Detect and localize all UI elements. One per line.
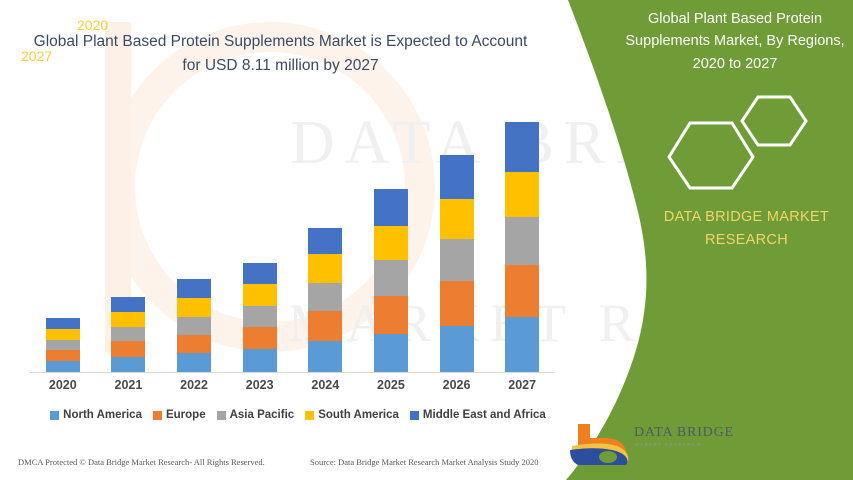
panel-title: Global Plant Based Protein Supplements M… [625, 8, 845, 75]
bar-stack [111, 297, 145, 372]
bar-segment-south-america [440, 199, 474, 239]
x-label-2020: 2020 [36, 378, 90, 392]
x-label-2026: 2026 [430, 378, 484, 392]
legend-label: Asia Pacific [230, 409, 295, 421]
logo-subtext: MARKET RESEARCH [635, 442, 701, 447]
bar-2026 [440, 155, 474, 372]
bar-segment-europe [46, 350, 80, 361]
bar-segment-north-america [374, 334, 408, 372]
bar-segment-europe [243, 327, 277, 349]
bar-segment-south-america [46, 329, 80, 340]
bar-segment-middle-east-and-africa [374, 189, 408, 226]
bar-stack [243, 263, 277, 372]
bar-segment-north-america [111, 357, 145, 372]
bar-segment-north-america [46, 361, 80, 372]
legend-swatch [217, 411, 226, 420]
x-label-2023: 2023 [233, 378, 287, 392]
hexagon-2020-label: 2020 [77, 17, 108, 33]
legend-swatch [153, 411, 162, 420]
bar-stack [374, 189, 408, 372]
bar-segment-middle-east-and-africa [440, 155, 474, 199]
bar-segment-asia-pacific [374, 260, 408, 296]
bar-segment-north-america [243, 349, 277, 372]
bar-segment-asia-pacific [308, 283, 342, 311]
bar-segment-north-america [505, 317, 539, 372]
logo-wordmark: DATA BRIDGE [634, 425, 734, 441]
bar-stack [46, 318, 80, 372]
bar-segment-north-america [308, 341, 342, 372]
bar-segment-europe [440, 281, 474, 326]
bar-segment-asia-pacific [177, 317, 211, 335]
bar-segment-south-america [308, 254, 342, 283]
bar-segment-south-america [243, 284, 277, 306]
bar-2022 [177, 279, 211, 372]
x-label-2025: 2025 [364, 378, 418, 392]
bar-segment-asia-pacific [46, 340, 80, 350]
legend-swatch [410, 411, 419, 420]
hexagon-graphic [655, 95, 815, 190]
bar-segment-south-america [177, 298, 211, 317]
page-title: Global Plant Based Protein Supplements M… [28, 30, 533, 78]
bar-segment-middle-east-and-africa [111, 297, 145, 312]
footer-copyright: DMCA Protected © Data Bridge Market Rese… [18, 457, 265, 467]
bar-2023 [243, 263, 277, 372]
bar-segment-middle-east-and-africa [243, 263, 277, 284]
bar-segment-south-america [111, 312, 145, 327]
x-label-2024: 2024 [298, 378, 352, 392]
chart-legend: North AmericaEuropeAsia PacificSouth Ame… [28, 409, 568, 421]
chart-plot-area [30, 110, 555, 373]
bar-2027 [505, 122, 539, 372]
x-axis-labels: 20202021202220232024202520262027 [30, 378, 555, 398]
legend-label: North America [63, 409, 142, 421]
x-label-2021: 2021 [101, 378, 155, 392]
x-label-2027: 2027 [495, 378, 549, 392]
bar-segment-europe [177, 335, 211, 353]
legend-item-middle-east-and-africa[interactable]: Middle East and Africa [410, 409, 546, 421]
bar-stack [308, 228, 342, 372]
hexagon-2027-label: 2027 [21, 48, 52, 64]
legend-label: South America [318, 409, 399, 421]
hexagon-2027 [669, 123, 753, 188]
bar-2020 [46, 318, 80, 372]
x-axis-line [30, 372, 555, 373]
infographic-canvas: DATA BRIDGE MARKET RESEARCH Global Plant… [0, 0, 853, 480]
bar-segment-europe [505, 265, 539, 317]
bar-2024 [308, 228, 342, 372]
bar-stack [440, 155, 474, 372]
bar-segment-middle-east-and-africa [46, 318, 80, 329]
bar-segment-asia-pacific [243, 306, 277, 327]
legend-item-north-america[interactable]: North America [50, 409, 142, 421]
legend-label: Europe [166, 409, 206, 421]
bar-segment-middle-east-and-africa [177, 279, 211, 298]
bar-segment-north-america [177, 353, 211, 372]
legend-item-europe[interactable]: Europe [153, 409, 206, 421]
legend-item-asia-pacific[interactable]: Asia Pacific [217, 409, 295, 421]
footer-source: Source: Data Bridge Market Research Mark… [310, 457, 539, 467]
legend-swatch [305, 411, 314, 420]
legend-item-south-america[interactable]: South America [305, 409, 399, 421]
legend-swatch [50, 411, 59, 420]
x-label-2022: 2022 [167, 378, 221, 392]
bar-2025 [374, 189, 408, 372]
bar-segment-north-america [440, 326, 474, 372]
bar-stack [505, 122, 539, 372]
panel-brand-text: DATA BRIDGE MARKET RESEARCH [640, 206, 853, 252]
hexagon-2020 [742, 97, 806, 145]
logo-inner-cut [599, 451, 617, 463]
bar-segment-middle-east-and-africa [308, 228, 342, 254]
bar-segment-europe [308, 311, 342, 341]
bar-segment-asia-pacific [440, 239, 474, 281]
bar-segment-middle-east-and-africa [505, 122, 539, 172]
bar-segment-south-america [505, 172, 539, 217]
bar-segment-europe [111, 341, 145, 357]
bar-segment-south-america [374, 226, 408, 260]
bar-stack [177, 279, 211, 372]
legend-label: Middle East and Africa [423, 409, 546, 421]
bar-segment-asia-pacific [111, 327, 145, 341]
bar-segment-asia-pacific [505, 217, 539, 265]
bar-segment-europe [374, 296, 408, 334]
bar-2021 [111, 297, 145, 372]
